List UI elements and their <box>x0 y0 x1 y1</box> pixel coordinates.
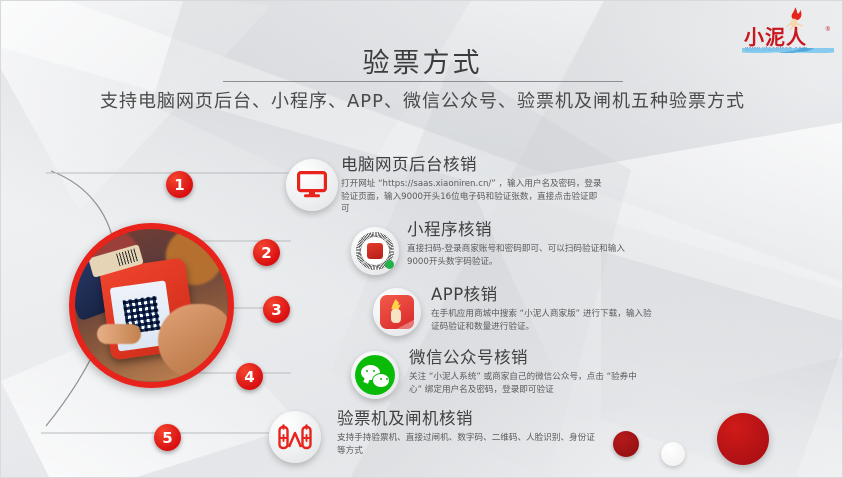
body-web-backend: 打开网址 “https://saas.xiaoniren.cn/” ，输入用户名… <box>341 178 603 216</box>
heading-app: APP核销 <box>431 281 659 305</box>
mini-program-icon <box>356 232 394 270</box>
monitor-icon <box>297 171 327 199</box>
mini-program-icon-badge <box>351 227 399 275</box>
mini-program-status-dot <box>385 260 394 269</box>
decor-circle-large-red <box>717 413 769 465</box>
text-wechat: 微信公众号核销 关注 “小泥人系统” 或商家自己的微信公众号，点击 “验券中心”… <box>409 344 641 396</box>
title-divider <box>223 81 623 82</box>
turnstile-icon-badge <box>269 411 321 463</box>
monitor-icon-badge <box>286 159 338 211</box>
photo-barcode <box>116 248 139 266</box>
step-number-4: 4 <box>236 363 263 390</box>
text-turnstile: 验票机及闸机核销 支持手持验票机、直接过闸机、数字码、二维码、人脸识别、身份证等… <box>337 405 595 457</box>
slide-canvas: 小泥人 ® www.xiaoniren.com 验票方式 支持电脑网页后台、小程… <box>0 0 843 478</box>
photo-finger <box>97 324 141 344</box>
page-subtitle: 支持电脑网页后台、小程序、APP、微信公众号、验票机及闸机五种验票方式 <box>1 87 843 113</box>
text-app: APP核销 在手机应用商城中搜索 “小泥人商家版” 进行下载，输入验证码验证和数… <box>431 281 659 333</box>
app-icon-badge <box>373 288 421 336</box>
step-number-1: 1 <box>166 171 193 198</box>
heading-wechat: 微信公众号核销 <box>409 344 641 368</box>
heading-web-backend: 电脑网页后台核销 <box>341 151 603 175</box>
body-app: 在手机应用商城中搜索 “小泥人商家版” 进行下载，输入验证码验证和数量进行验证。 <box>431 308 659 333</box>
wechat-icon-badge <box>351 351 399 399</box>
wechat-eye-4 <box>386 378 388 380</box>
text-web-backend: 电脑网页后台核销 打开网址 “https://saas.xiaoniren.cn… <box>341 151 603 216</box>
hero-photo <box>69 223 234 388</box>
photo-hand <box>158 304 232 378</box>
body-wechat: 关注 “小泥人系统” 或商家自己的微信公众号，点击 “验券中心” 绑定用户名及密… <box>409 371 641 396</box>
turnstile-icon <box>278 423 312 451</box>
decor-circle-white <box>661 442 685 466</box>
page-title: 验票方式 <box>1 41 843 80</box>
text-mini-program: 小程序核销 直接扫码-登录商家账号和密码即可、可以扫码验证和输入9000开头数字… <box>407 216 642 268</box>
logo-registered-mark: ® <box>826 27 830 33</box>
body-turnstile: 支持手持验票机、直接过闸机、数字码、二维码、人脸识别、身份证等方式 <box>337 432 595 457</box>
heading-mini-program: 小程序核销 <box>407 216 642 240</box>
app-icon-mascot <box>391 309 401 323</box>
step-number-5: 5 <box>154 424 181 451</box>
app-icon <box>380 295 414 329</box>
mini-program-mark <box>367 243 383 259</box>
wechat-icon <box>355 355 395 395</box>
wechat-eye-3 <box>380 378 382 380</box>
step-number-2: 2 <box>253 239 280 266</box>
heading-turnstile: 验票机及闸机核销 <box>337 405 595 429</box>
step-number-3: 3 <box>263 296 290 323</box>
body-mini-program: 直接扫码-登录商家账号和密码即可、可以扫码验证和输入9000开头数字码验证。 <box>407 243 642 268</box>
wechat-bubble-small <box>372 373 390 388</box>
decor-circle-dark-red <box>613 431 639 457</box>
